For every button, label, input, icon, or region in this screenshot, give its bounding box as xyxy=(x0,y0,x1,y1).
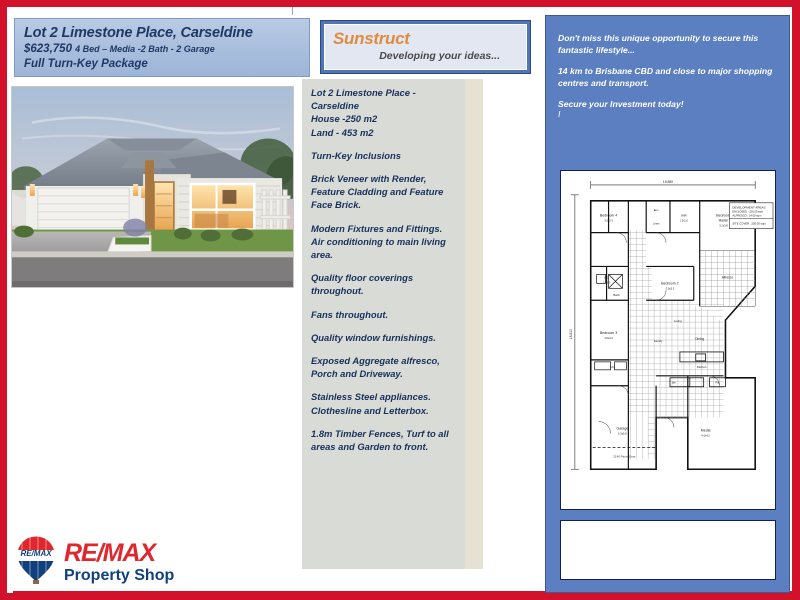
svg-text:WC: WC xyxy=(604,275,610,279)
package-subtitle: Full Turn-Key Package xyxy=(24,57,309,72)
floor-plan-box: 15.880 18.810 xyxy=(560,170,776,510)
spacer xyxy=(311,380,457,390)
agency-logo: RE/MAX RE/MAX Property Shop xyxy=(14,534,204,586)
inclusion-item: Porch and Driveway. xyxy=(311,367,457,380)
svg-text:3.0x3.3: 3.0x3.3 xyxy=(604,336,613,340)
inclusion-item: Air conditioning to main living xyxy=(311,235,457,248)
property-header: Lot 2 Limestone Place, Carseldine $623,7… xyxy=(14,18,310,77)
svg-text:1.5x1.6: 1.5x1.6 xyxy=(680,220,688,223)
price-and-specs: $623,750 4 Bed – Media -2 Bath - 2 Garag… xyxy=(24,42,309,57)
svg-text:Bin: Bin xyxy=(672,381,676,385)
inclusion-item: Clothesline and Letterbox. xyxy=(311,404,457,417)
svg-text:Living: Living xyxy=(674,319,682,323)
floor-plan-drawing: 15.880 18.810 xyxy=(561,171,775,509)
detail-house-area: House -250 m2 xyxy=(311,112,457,125)
svg-text:3.2x3.8: 3.2x3.8 xyxy=(719,224,728,228)
inclusion-item: Fans throughout. xyxy=(311,308,457,321)
inclusion-item: area. xyxy=(311,248,457,261)
spacer xyxy=(311,321,457,331)
promo-line: Don't miss this unique opportunity to se… xyxy=(558,32,777,44)
inclusion-item: throughout. xyxy=(311,284,457,297)
balloon-wordmark: RE/MAX xyxy=(20,549,52,558)
agency-brand-primary: RE/MAX xyxy=(64,539,158,567)
column-accent-strip xyxy=(465,79,483,569)
detail-address-line2: Carseldine xyxy=(311,99,457,112)
inclusion-item: Exposed Aggregate alfresco, xyxy=(311,354,457,367)
spacer xyxy=(311,344,457,354)
development-areas-box: DEVELOPMENT AREAS ENCLOSED : 226.00 sqm … xyxy=(729,203,773,229)
svg-text:Family: Family xyxy=(654,339,663,343)
svg-text:ENCLOSED : 226.00 sqm: ENCLOSED : 226.00 sqm xyxy=(732,210,763,214)
page-border-left xyxy=(0,0,7,600)
svg-text:ALFRESCO : 24.00 sqm: ALFRESCO : 24.00 sqm xyxy=(732,214,762,218)
svg-text:Bedroom 4: Bedroom 4 xyxy=(600,214,617,218)
spec-summary: 4 Bed – Media -2 Bath - 2 Garage xyxy=(75,44,215,54)
page-border-top xyxy=(0,0,800,7)
svg-text:WIR: WIR xyxy=(681,214,687,218)
inclusion-item: Quality window furnishings. xyxy=(311,331,457,344)
svg-text:Ldry: Ldry xyxy=(610,365,616,369)
svg-text:5.5x5.8: 5.5x5.8 xyxy=(618,431,627,435)
secondary-blank-box xyxy=(560,520,776,580)
promo-line: fantastic lifestyle... xyxy=(558,44,777,56)
svg-text:Garage: Garage xyxy=(616,426,628,430)
svg-text:Media: Media xyxy=(701,428,711,432)
svg-text:3.0x3.3: 3.0x3.3 xyxy=(666,286,675,290)
spacer xyxy=(311,298,457,308)
inclusion-item: Quality floor coverings xyxy=(311,271,457,284)
inclusion-item: areas and Garden to front. xyxy=(311,440,457,453)
text-cursor: I xyxy=(558,110,777,119)
svg-text:Ens: Ens xyxy=(654,208,659,212)
svg-text:DEVELOPMENT AREAS: DEVELOPMENT AREAS xyxy=(732,205,765,209)
inclusion-item: 1.8m Timber Fences, Turf to all xyxy=(311,427,457,440)
promo-line: centres and transport. xyxy=(558,77,777,89)
svg-text:Kitchen: Kitchen xyxy=(697,365,707,369)
remax-balloon-icon: RE/MAX RE/MAX Property Shop xyxy=(14,534,204,586)
spacer xyxy=(311,212,457,222)
promo-panel: Don't miss this unique opportunity to se… xyxy=(545,15,790,593)
agency-brand-secondary: Property Shop xyxy=(64,567,174,584)
svg-text:3.0x3.3: 3.0x3.3 xyxy=(604,219,613,223)
svg-text:1.1x1.5: 1.1x1.5 xyxy=(603,281,611,284)
builder-tagline: Developing your ideas... xyxy=(333,49,518,63)
svg-text:Master: Master xyxy=(719,219,729,223)
svg-text:Bedroom: Bedroom xyxy=(716,214,730,218)
flyer-page: Lot 2 Limestone Place, Carseldine $623,7… xyxy=(0,0,800,600)
svg-text:Bath: Bath xyxy=(613,293,619,297)
page-border-right xyxy=(792,0,800,600)
svg-text:Bedroom 2: Bedroom 2 xyxy=(661,281,678,285)
spacer xyxy=(311,417,457,427)
svg-text:4.0x4.2: 4.0x4.2 xyxy=(701,433,710,437)
svg-text:Dining: Dining xyxy=(695,337,704,341)
spacer xyxy=(311,139,457,149)
inclusion-item: Feature Cladding and Feature xyxy=(311,185,457,198)
promo-line: 14 km to Brisbane CBD and close to major… xyxy=(558,65,777,77)
inclusion-item: Brick Veneer with Render, xyxy=(311,172,457,185)
detail-land-area: Land - 453 m2 xyxy=(311,126,457,139)
detail-address-line1: Lot 2 Limestone Place - xyxy=(311,86,457,99)
spacer xyxy=(558,56,777,65)
builder-logo-inner: Sunstruct Developing your ideas... xyxy=(324,24,527,70)
svg-text:Pdr: Pdr xyxy=(716,381,720,385)
spacer xyxy=(311,162,457,172)
inclusions-heading: Turn-Key Inclusions xyxy=(311,149,457,162)
inclusion-item: Stainless Steel appliances. xyxy=(311,390,457,403)
price-value: $623,750 xyxy=(24,43,72,55)
svg-text:Bedroom 3: Bedroom 3 xyxy=(600,331,617,335)
promo-call-to-action: Secure your Investment today! xyxy=(558,98,777,110)
inclusion-item: Modern Fixtures and Fittings. xyxy=(311,222,457,235)
builder-logo-box: Sunstruct Developing your ideas... xyxy=(320,20,531,74)
page-title: Lot 2 Limestone Place, Carseldine xyxy=(24,24,309,42)
property-details-column: Lot 2 Limestone Place - Carseldine House… xyxy=(302,79,465,569)
plan-note: 2140 Panel Door xyxy=(613,454,635,458)
house-photo xyxy=(11,86,294,288)
svg-text:Alfresco: Alfresco xyxy=(722,275,734,279)
svg-text:Linen: Linen xyxy=(653,222,660,226)
spacer xyxy=(558,89,777,98)
house-render-illustration xyxy=(12,87,293,287)
inclusion-item: Face Brick. xyxy=(311,198,457,211)
svg-text:15.880: 15.880 xyxy=(663,180,673,184)
svg-text:SITE COVER : 250.00 sqm: SITE COVER : 250.00 sqm xyxy=(732,222,766,226)
promo-text: Don't miss this unique opportunity to se… xyxy=(546,16,789,119)
spacer xyxy=(311,261,457,271)
builder-name: Sunstruct xyxy=(333,29,518,49)
svg-text:18.810: 18.810 xyxy=(569,329,573,339)
